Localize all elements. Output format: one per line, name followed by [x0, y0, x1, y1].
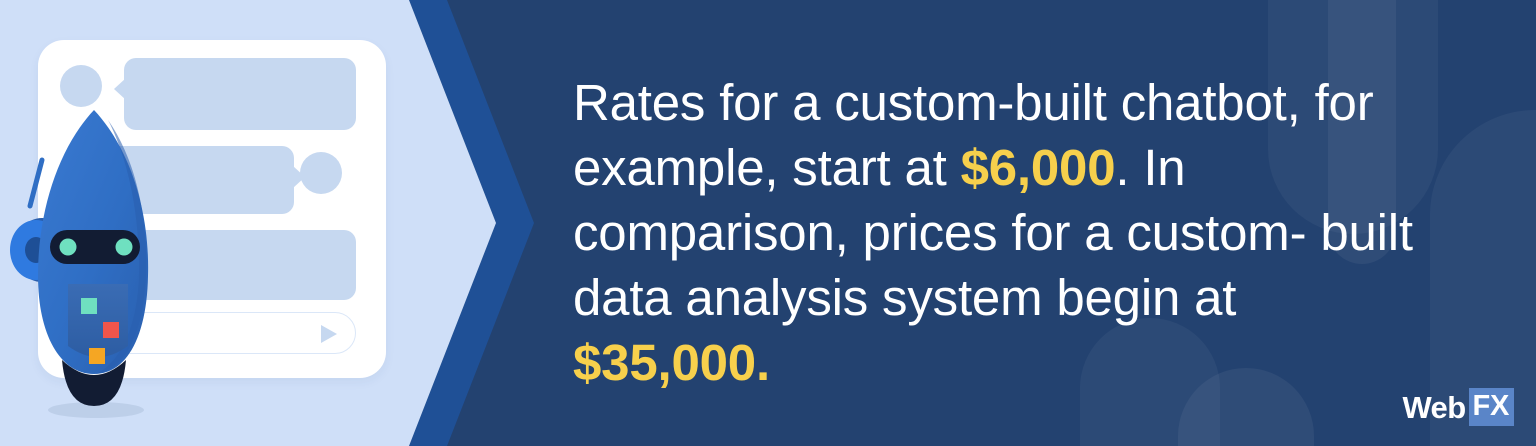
robot-mascot [8, 98, 208, 418]
headline-line-1: Rates for a custom-built chatbot, [573, 74, 1301, 131]
logo-wordmark: Web [1402, 392, 1465, 423]
illustration-panel [0, 0, 500, 446]
price-data-analysis: $35,000. [573, 334, 770, 391]
price-chatbot: $6,000 [961, 139, 1116, 196]
avatar [300, 152, 342, 194]
headline-line-3: comparison, prices for a custom- [573, 204, 1306, 261]
headline-line-2-post: . In [1115, 139, 1185, 196]
headline-block: Rates for a custom-built chatbot, for ex… [573, 70, 1433, 395]
headline-paragraph: Rates for a custom-built chatbot, for ex… [573, 70, 1433, 395]
promo-banner: Rates for a custom-built chatbot, for ex… [0, 0, 1536, 446]
headline-line-5-pre: at [1194, 269, 1236, 326]
send-icon[interactable] [321, 325, 337, 343]
logo-badge: FX [1469, 388, 1514, 426]
webfx-logo[interactable]: Web FX [1402, 388, 1514, 426]
